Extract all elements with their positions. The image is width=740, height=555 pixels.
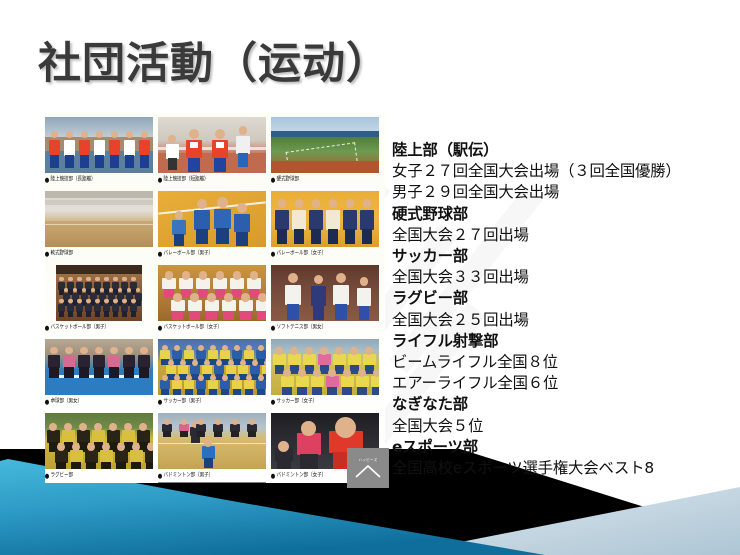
photo-cell[interactable]: ラグビー部	[45, 413, 153, 484]
photo-caption-text: ソフトテニス部（男女）	[277, 322, 326, 333]
caption-bullet-icon	[45, 325, 49, 330]
caption-bullet-icon	[45, 473, 49, 478]
club-result: 全国大会２５回出場	[392, 310, 738, 331]
club-result: 全国大会５位	[392, 416, 738, 437]
photo-caption-text: バレーボール部（男子）	[164, 248, 213, 259]
photo-cell[interactable]: バスケットボール部（女子）	[158, 265, 266, 336]
chevron-logo-icon	[355, 464, 381, 478]
club-heading: eスポーツ部	[392, 437, 738, 458]
photo-caption-text: サッカー部（女子）	[277, 396, 317, 407]
caption-bullet-icon	[158, 473, 162, 478]
club-photo-soccer-men	[158, 339, 266, 395]
photo-caption: バドミントン部（男子）	[158, 470, 266, 483]
photo-caption-text: バスケットボール部（女子）	[164, 322, 222, 333]
logo-badge: ハッピーズ	[347, 448, 389, 488]
photo-row: バスケットボール部（男子）バスケットボール部（女子）ソフトテニス部（男女）	[45, 265, 385, 336]
photo-caption: バレーボール部（男子）	[158, 248, 266, 259]
caption-bullet-icon	[158, 177, 162, 182]
club-heading: ライフル射撃部	[392, 331, 738, 352]
club-heading: サッカー部	[392, 246, 738, 267]
photo-caption: 陸上競技部（長距離）	[45, 174, 153, 185]
photo-caption: バレーボール部（女子）	[271, 248, 379, 259]
caption-bullet-icon	[158, 325, 162, 330]
page-title: 社団活動（运动）	[38, 29, 390, 91]
club-heading: ラグビー部	[392, 288, 738, 309]
photo-cell[interactable]: 軟式野球部	[45, 191, 153, 262]
club-photo-table-tennis	[45, 339, 153, 395]
photo-grid-panel: 陸上競技部（長距離）陸上競技部（短距離）硬式野球部軟式野球部バレーボール部（男子…	[45, 113, 385, 483]
photo-caption-text: ラグビー部	[51, 470, 73, 481]
photo-caption: バスケットボール部（女子）	[158, 322, 266, 333]
photo-caption-text: バレーボール部（女子）	[277, 248, 326, 259]
photo-caption-text: 硬式野球部	[277, 174, 299, 185]
achievements-list: 陸上部（駅伝）女子２７回全国大会出場（３回全国優勝）男子２９回全国大会出場硬式野…	[392, 140, 738, 479]
club-heading: 陸上部（駅伝）	[392, 140, 738, 161]
photo-caption: ソフトテニス部（男女）	[271, 322, 379, 333]
photo-cell[interactable]: ソフトテニス部（男女）	[271, 265, 379, 336]
photo-caption-text: 軟式野球部	[51, 248, 73, 259]
caption-bullet-icon	[271, 473, 275, 478]
photo-caption: 陸上競技部（短距離）	[158, 174, 266, 185]
caption-bullet-icon	[271, 399, 275, 404]
club-heading: 硬式野球部	[392, 204, 738, 225]
club-photo-rugby	[45, 413, 153, 469]
club-photo-ekiden-runners	[45, 117, 153, 173]
club-photo-volleyball-men	[158, 191, 266, 247]
photo-cell[interactable]: バドミントン部（男子）	[158, 413, 266, 484]
club-photo-badminton-men	[158, 413, 266, 469]
photo-caption: サッカー部（男子）	[158, 396, 266, 407]
club-result: 全国高校eスポーツ選手権大会ベスト8	[392, 458, 738, 479]
photo-caption-text: 陸上競技部（長距離）	[51, 174, 96, 185]
club-photo-basketball-women	[158, 265, 266, 321]
photo-row: 陸上競技部（長距離）陸上競技部（短距離）硬式野球部	[45, 117, 385, 188]
club-photo-volleyball-women	[271, 191, 379, 247]
photo-row: 軟式野球部バレーボール部（男子）バレーボール部（女子）	[45, 191, 385, 262]
photo-caption: 卓球部（男女）	[45, 396, 153, 407]
club-result: ビームライフル全国８位	[392, 352, 738, 373]
caption-bullet-icon	[271, 251, 275, 256]
presentation-slide: 社団活動（运动） 陸上競技部（長距離）陸上競技部（短距離）硬式野球部軟式野球部バ…	[0, 0, 740, 555]
caption-bullet-icon	[271, 325, 275, 330]
photo-cell[interactable]: 陸上競技部（短距離）	[158, 117, 266, 188]
club-photo-gymnasium	[45, 191, 153, 247]
caption-bullet-icon	[271, 177, 275, 182]
club-photo-basketball-men	[56, 265, 142, 321]
photo-cell[interactable]: バレーボール部（男子）	[158, 191, 266, 262]
photo-cell[interactable]: 陸上競技部（長距離）	[45, 117, 153, 188]
caption-bullet-icon	[45, 251, 49, 256]
club-result: エアーライフル全国６位	[392, 373, 738, 394]
photo-caption: サッカー部（女子）	[271, 396, 379, 407]
caption-bullet-icon	[45, 399, 49, 404]
club-result: 全国大会３３回出場	[392, 267, 738, 288]
photo-caption: 硬式野球部	[271, 174, 379, 185]
caption-bullet-icon	[158, 399, 162, 404]
club-heading: なぎなた部	[392, 394, 738, 415]
photo-caption: 軟式野球部	[45, 248, 153, 259]
club-photo-sprint-relay	[158, 117, 266, 173]
photo-caption-text: バスケットボール部（男子）	[51, 322, 109, 333]
photo-row: ラグビー部バドミントン部（男子）バドミントン部（女子）	[45, 413, 385, 484]
photo-caption-text: サッカー部（男子）	[164, 396, 204, 407]
photo-cell[interactable]: 卓球部（男女）	[45, 339, 153, 410]
photo-caption-text: 陸上競技部（短距離）	[164, 174, 209, 185]
photo-row: 卓球部（男女）サッカー部（男子）サッカー部（女子）	[45, 339, 385, 410]
photo-cell[interactable]: サッカー部（女子）	[271, 339, 379, 410]
photo-caption: バスケットボール部（男子）	[45, 322, 153, 333]
photo-cell[interactable]: バレーボール部（女子）	[271, 191, 379, 262]
photo-cell[interactable]: バスケットボール部（男子）	[45, 265, 153, 336]
club-photo-soccer-women	[271, 339, 379, 395]
logo-label: ハッピーズ	[359, 458, 378, 463]
club-photo-baseball-field	[271, 117, 379, 173]
photo-caption-text: バドミントン部（男子）	[164, 470, 214, 481]
club-photo-soft-tennis	[271, 265, 379, 321]
photo-cell[interactable]: 硬式野球部	[271, 117, 379, 188]
photo-caption-text: 卓球部（男女）	[51, 396, 82, 407]
caption-bullet-icon	[45, 177, 49, 182]
photo-caption-text: バドミントン部（女子）	[277, 470, 327, 481]
club-result: 女子２７回全国大会出場（３回全国優勝）	[392, 161, 738, 182]
photo-caption: ラグビー部	[45, 470, 153, 481]
club-result: 全国大会２７回出場	[392, 225, 738, 246]
caption-bullet-icon	[158, 251, 162, 256]
photo-cell[interactable]: サッカー部（男子）	[158, 339, 266, 410]
club-result: 男子２９回全国大会出場	[392, 182, 738, 203]
